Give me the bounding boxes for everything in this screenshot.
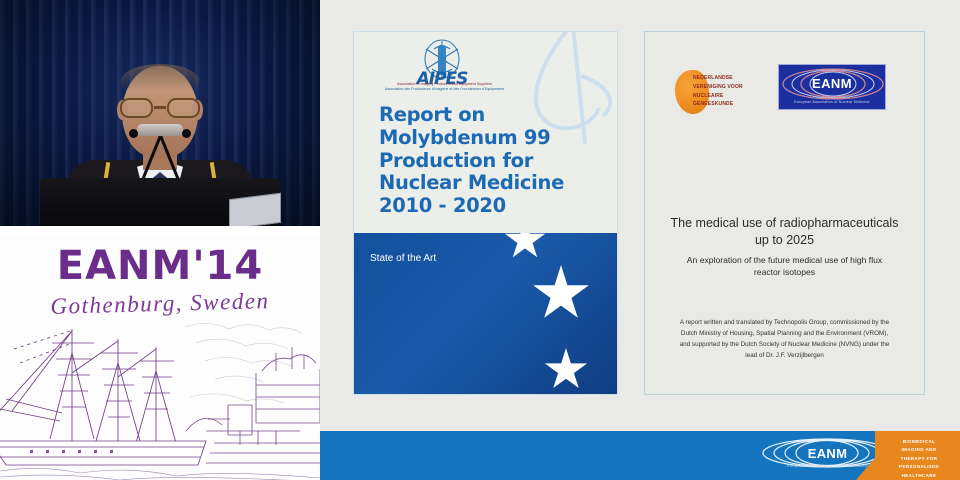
- presentation-slide: AIPES Association of Imaging Producers a…: [320, 0, 960, 480]
- tall-ship-illustration: [0, 313, 320, 480]
- document-aipes-title: Report on Molybdenum 99 Production for N…: [379, 104, 607, 218]
- document-aipes-report[interactable]: AIPES Association of Imaging Producers a…: [353, 31, 618, 395]
- document-nvng-report[interactable]: NEDERLANDSE VERENIGING VOOR NUCLEAIRE GE…: [644, 31, 925, 395]
- glasses-lens-left: [120, 98, 153, 118]
- document-nvng-heading: The medical use of radiopharmaceuticals …: [659, 215, 910, 249]
- conference-speaker-video[interactable]: [0, 0, 320, 226]
- document-aipes-upper: AIPES Association of Imaging Producers a…: [354, 32, 617, 235]
- panel-divider: [0, 226, 320, 237]
- nvng-logo: NEDERLANDSE VERENIGING VOOR NUCLEAIRE GE…: [675, 70, 761, 114]
- eanm14-poster: EANM'14 Gothenburg, Sweden: [0, 237, 320, 480]
- eanm-logo: EANM European Association of Nuclear Med…: [778, 64, 886, 110]
- banner-tagline: BIOMEDICAL IMAGING AND THERAPY FOR PERSO…: [883, 438, 955, 480]
- bottom-banner: EANM European Association of Nuclear Med…: [320, 431, 960, 480]
- glasses-lens-right: [167, 98, 200, 118]
- microphone-head-right: [182, 129, 191, 138]
- eanm-logo-subtitle: European Association of Nuclear Medicine: [779, 100, 885, 104]
- poster-title: EANM'14: [0, 243, 320, 289]
- aipes-tagline-line1: Association of Imaging Producers and Equ…: [377, 82, 512, 87]
- aipes-tagline-line2: Association des Producteurs d'Imagerie e…: [377, 87, 512, 92]
- star-icon-3: [544, 348, 588, 392]
- aipes-tagline: Association of Imaging Producers and Equ…: [377, 82, 512, 91]
- eanm-logo-word: EANM: [779, 76, 885, 91]
- document-nvng-credit: A report written and translated by Techn…: [675, 317, 894, 361]
- speaker-hair: [121, 64, 199, 98]
- document-nvng-subheading: An exploration of the future medical use…: [667, 254, 902, 278]
- document-aipes-subtitle: State of the Art: [370, 253, 436, 264]
- nvng-logo-text: NEDERLANDSE VERENIGING VOOR NUCLEAIRE GE…: [693, 74, 759, 109]
- slide-bottom-gap: [640, 424, 960, 431]
- glasses-bridge: [154, 106, 166, 109]
- left-column: EANM'14 Gothenburg, Sweden: [0, 0, 320, 480]
- speaker-figure: [45, 56, 275, 226]
- laptop: [229, 193, 281, 226]
- screenshot-stage: EANM'14 Gothenburg, Sweden: [0, 0, 960, 480]
- star-icon-1: [504, 233, 546, 261]
- speaker-glasses: [118, 98, 202, 118]
- star-icon-2: [532, 265, 590, 323]
- microphone-head-left: [129, 129, 138, 138]
- document-aipes-footer-panel: State of the Art: [354, 233, 617, 394]
- speaker-moustache: [137, 124, 183, 136]
